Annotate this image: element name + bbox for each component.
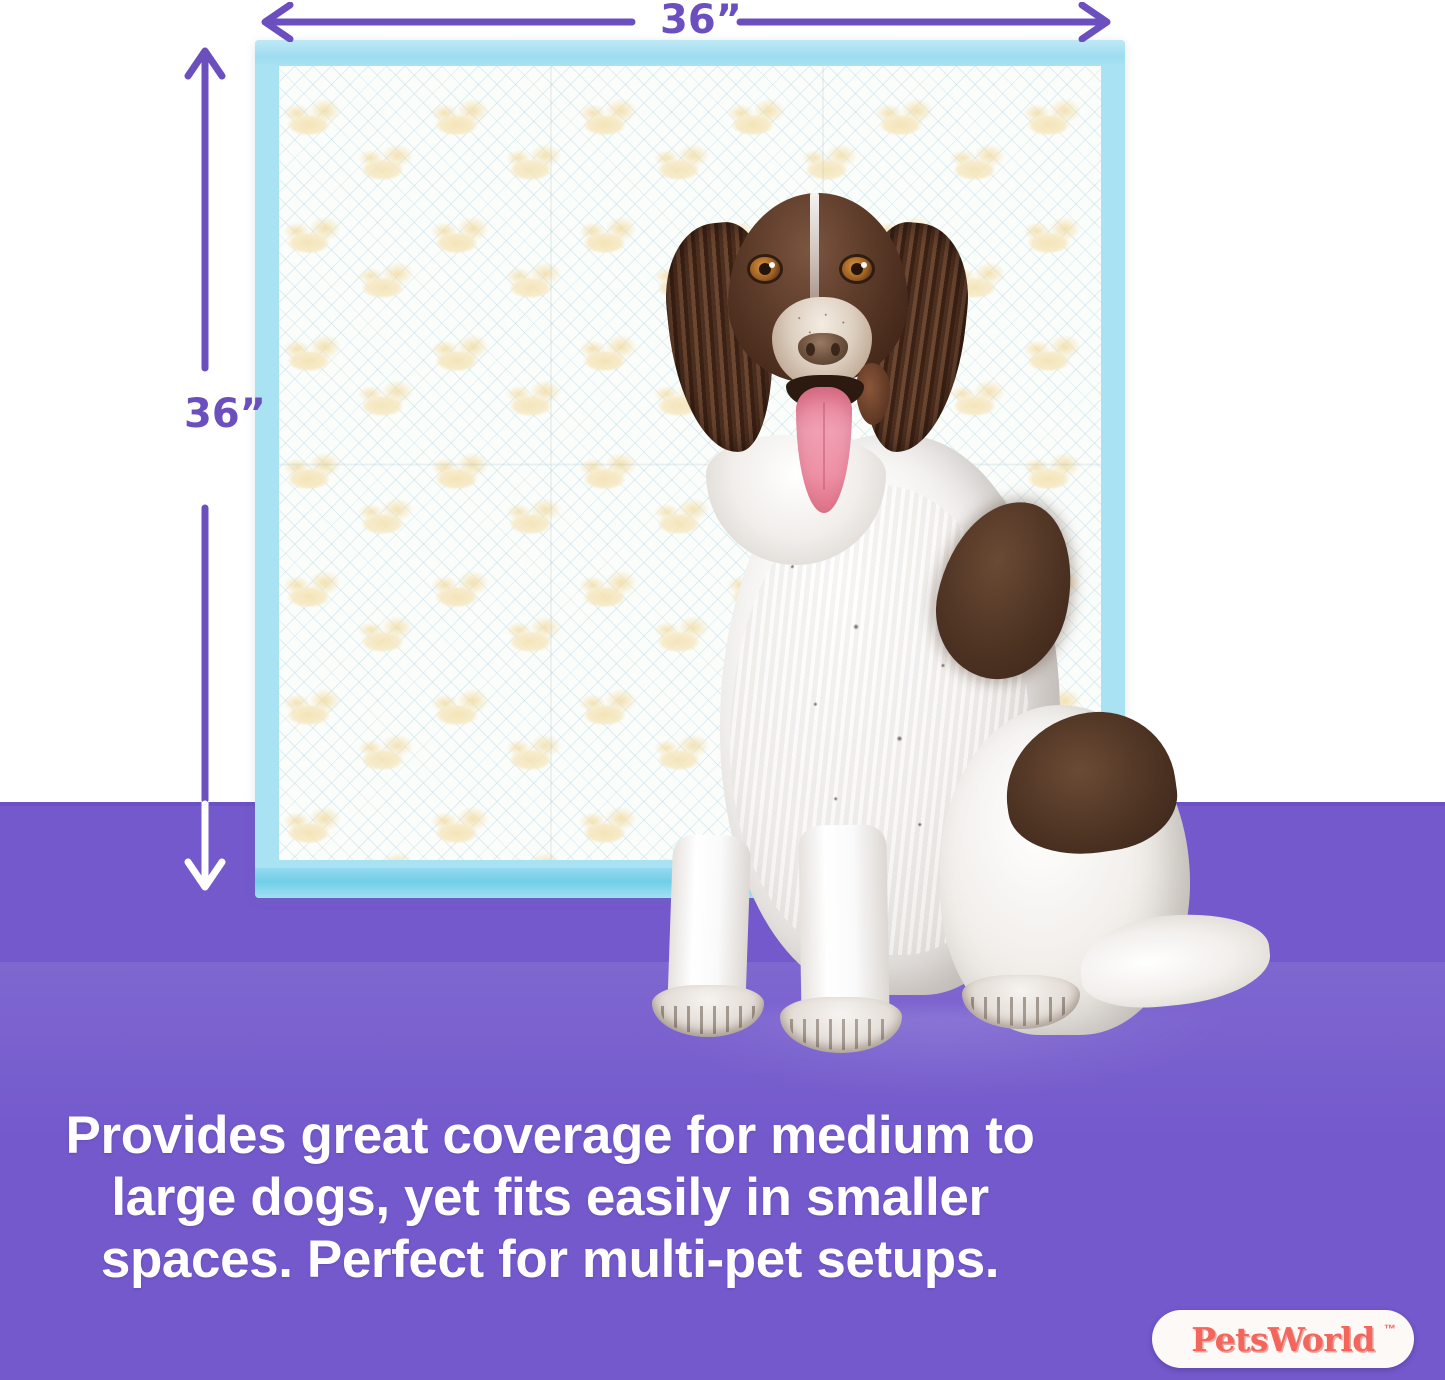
brand-name: PetsWorld [1191, 1320, 1375, 1359]
caption-line-1: Provides great coverage for medium to [0, 1105, 1100, 1167]
dog-nostril-left [806, 343, 815, 356]
pad-top-edge [255, 40, 1125, 66]
height-dimension-label: 36” [160, 392, 290, 436]
dog-head [650, 185, 980, 485]
dog-eye-glint [861, 262, 867, 268]
height-dimension-arrow [182, 38, 228, 900]
caption-line-2: large dogs, yet fits easily in smaller [0, 1167, 1100, 1229]
trademark-symbol: ™ [1384, 1322, 1396, 1336]
dog-nostril-right [831, 343, 840, 356]
product-image-canvas: 36” 36” Provides great coverage for me [0, 0, 1445, 1380]
dog-eye-left [750, 257, 780, 281]
caption-line-3: spaces. Perfect for multi-pet setups. [0, 1229, 1100, 1291]
width-dimension-label: 36” [646, 0, 756, 42]
dog-floor-reflection [640, 1010, 1240, 1100]
dog-photo [610, 185, 1270, 1035]
dog-tongue-crease [823, 402, 825, 490]
marketing-caption: Provides great coverage for medium to la… [0, 1105, 1100, 1291]
dog-eye-right [842, 257, 872, 281]
brand-logo: PetsWorld ™ [1152, 1310, 1414, 1368]
dog-eye-glint [769, 262, 775, 268]
